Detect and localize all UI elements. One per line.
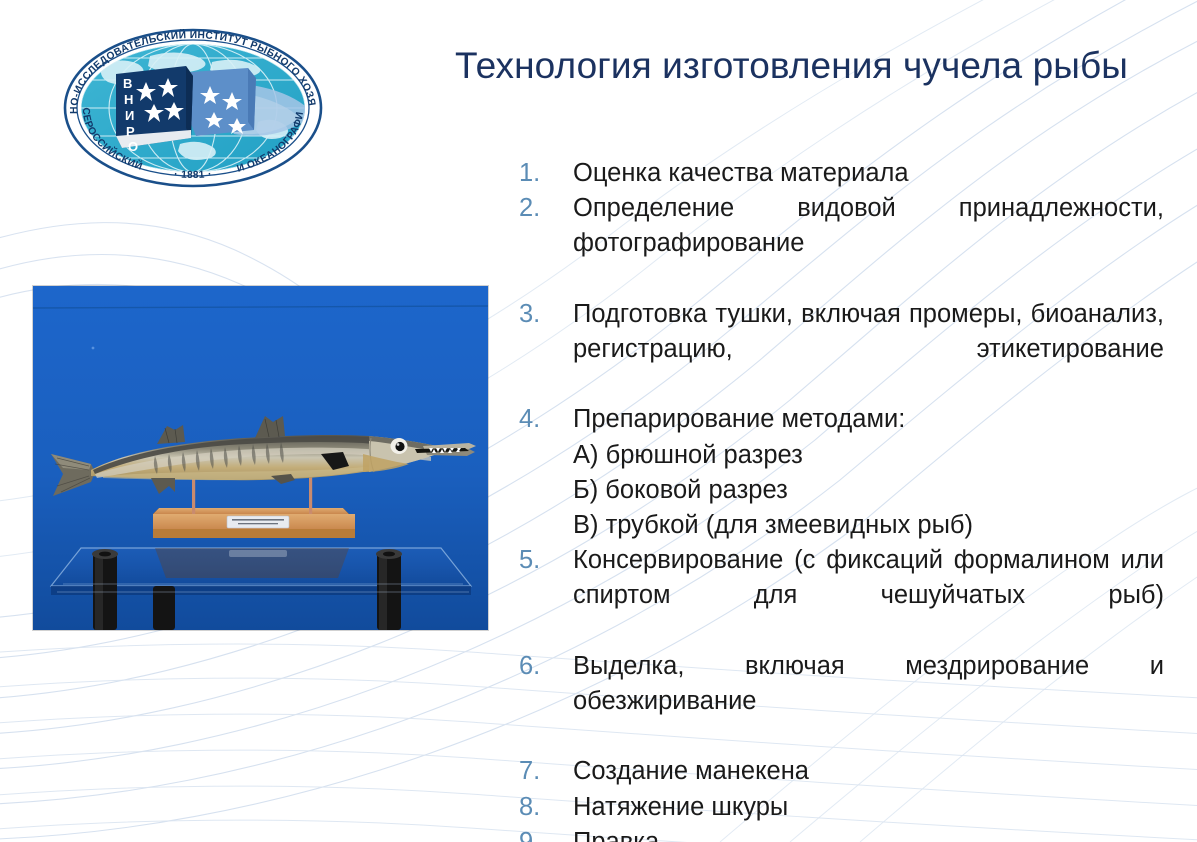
list-item-text: Препарирование методами: bbox=[573, 402, 1164, 437]
list-item-number: 2. bbox=[519, 191, 565, 226]
list-item: 3.Подготовка тушки, включая промеры, био… bbox=[519, 297, 1164, 403]
list-item-number: 7. bbox=[519, 754, 565, 789]
vniro-logo: В Н И Р О НАУЧНО-ИССЛЕДОВАТЕЛЬСКИЙ ИНСТИ… bbox=[62, 26, 324, 194]
list-subitem: Б) боковой разрез bbox=[519, 473, 1164, 508]
list-item-number: 6. bbox=[519, 649, 565, 684]
list-item-text: Правка bbox=[573, 825, 1164, 842]
list-item-text: Определение видовой принадлежности, фото… bbox=[573, 191, 1164, 297]
list-item: 6.Выделка, включая мездрирование и обезж… bbox=[519, 649, 1164, 755]
svg-text:Н: Н bbox=[124, 92, 133, 107]
list-item-text: Оценка качества материала bbox=[573, 156, 1164, 191]
slide-root: В Н И Р О НАУЧНО-ИССЛЕДОВАТЕЛЬСКИЙ ИНСТИ… bbox=[0, 0, 1197, 842]
list-item-text: Создание манекена bbox=[573, 754, 1164, 789]
svg-text:В: В bbox=[123, 76, 132, 91]
list-item-number: 5. bbox=[519, 543, 565, 578]
fish-taxidermy-photo bbox=[33, 286, 488, 630]
svg-text:И: И bbox=[125, 108, 134, 123]
list-subitem: В) трубкой (для змеевидных рыб) bbox=[519, 508, 1164, 543]
list-item: 4.Препарирование методами: bbox=[519, 402, 1164, 437]
list-item-number: 9. bbox=[519, 825, 565, 842]
svg-text:Р: Р bbox=[126, 124, 135, 139]
list-item-text: Натяжение шкуры bbox=[573, 790, 1164, 825]
list-item-number: 3. bbox=[519, 297, 565, 332]
list-item-number: 8. bbox=[519, 790, 565, 825]
list-item-text: Консервирование (с фиксаций формалином и… bbox=[573, 543, 1164, 649]
list-item: 7.Создание манекена bbox=[519, 754, 1164, 789]
list-subitem: А) брюшной разрез bbox=[519, 438, 1164, 473]
list-item: 2.Определение видовой принадлежности, фо… bbox=[519, 191, 1164, 297]
list-item-text: Подготовка тушки, включая промеры, биоан… bbox=[573, 297, 1164, 403]
svg-text:· 1881 ·: · 1881 · bbox=[174, 169, 213, 181]
list-item: 8.Натяжение шкуры bbox=[519, 790, 1164, 825]
list-item-number: 4. bbox=[519, 402, 565, 437]
list-item-number: 1. bbox=[519, 156, 565, 191]
slide-title: Технология изготовления чучела рыбы bbox=[455, 44, 1190, 88]
list-item-text: Выделка, включая мездрирование и обезжир… bbox=[573, 649, 1164, 755]
list-item: 9.Правка bbox=[519, 825, 1164, 842]
list-item: 1.Оценка качества материала bbox=[519, 156, 1164, 191]
process-steps-list: 1.Оценка качества материала2.Определение… bbox=[519, 156, 1164, 842]
svg-text:О: О bbox=[128, 139, 138, 154]
list-item: 5.Консервирование (с фиксаций формалином… bbox=[519, 543, 1164, 649]
